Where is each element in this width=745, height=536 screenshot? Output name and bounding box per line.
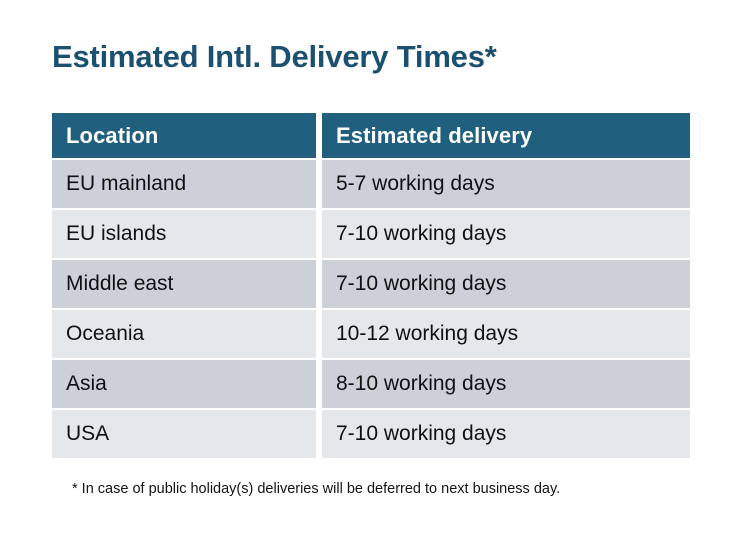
cell-estimated-delivery: 7-10 working days xyxy=(322,210,690,258)
table-row: EU islands 7-10 working days xyxy=(52,210,690,258)
cell-estimated-delivery: 7-10 working days xyxy=(322,260,690,308)
table-row: Middle east 7-10 working days xyxy=(52,260,690,308)
delivery-times-page: Estimated Intl. Delivery Times* Location… xyxy=(0,0,745,536)
cell-location-text: USA xyxy=(66,422,109,446)
column-header-estimated-delivery: Estimated delivery xyxy=(322,113,690,158)
cell-location: Asia xyxy=(52,360,316,408)
table-row: Asia 8-10 working days xyxy=(52,360,690,408)
cell-estimated-delivery: 10-12 working days xyxy=(322,310,690,358)
table-header-row: Location Estimated delivery xyxy=(52,113,690,158)
cell-estimated-delivery-text: 5-7 working days xyxy=(336,172,495,196)
cell-location-text: EU islands xyxy=(66,222,166,246)
cell-estimated-delivery-text: 7-10 working days xyxy=(336,222,506,246)
cell-location: EU mainland xyxy=(52,160,316,208)
cell-estimated-delivery: 7-10 working days xyxy=(322,410,690,458)
page-title: Estimated Intl. Delivery Times* xyxy=(52,37,497,77)
cell-estimated-delivery-text: 7-10 working days xyxy=(336,272,506,296)
cell-estimated-delivery: 8-10 working days xyxy=(322,360,690,408)
column-header-location: Location xyxy=(52,113,316,158)
column-header-location-label: Location xyxy=(66,123,158,149)
cell-location: EU islands xyxy=(52,210,316,258)
cell-estimated-delivery-text: 7-10 working days xyxy=(336,422,506,446)
cell-location-text: Middle east xyxy=(66,272,173,296)
footnote: * In case of public holiday(s) deliverie… xyxy=(72,479,560,499)
cell-location: Middle east xyxy=(52,260,316,308)
estimated-delivery-table: Location Estimated delivery EU mainland … xyxy=(52,113,690,458)
cell-estimated-delivery-text: 8-10 working days xyxy=(336,372,506,396)
table-row: Oceania 10-12 working days xyxy=(52,310,690,358)
cell-estimated-delivery: 5-7 working days xyxy=(322,160,690,208)
column-header-estimated-delivery-label: Estimated delivery xyxy=(336,123,532,149)
cell-estimated-delivery-text: 10-12 working days xyxy=(336,322,518,346)
cell-location-text: Asia xyxy=(66,372,107,396)
cell-location: Oceania xyxy=(52,310,316,358)
cell-location-text: Oceania xyxy=(66,322,144,346)
table-row: EU mainland 5-7 working days xyxy=(52,160,690,208)
cell-location: USA xyxy=(52,410,316,458)
cell-location-text: EU mainland xyxy=(66,172,186,196)
table-row: USA 7-10 working days xyxy=(52,410,690,458)
